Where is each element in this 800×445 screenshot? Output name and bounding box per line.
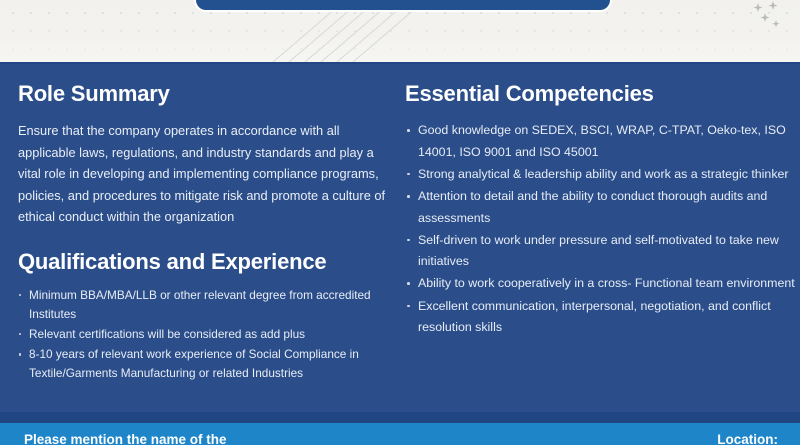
left-column: Role Summary Ensure that the company ope… <box>18 62 390 384</box>
role-summary-paragraph: Ensure that the company operates in acco… <box>18 120 390 227</box>
right-column: Essential Competencies Good knowledge on… <box>405 62 797 339</box>
list-item: Self-driven to work under pressure and s… <box>405 230 797 273</box>
footer-divider-strip <box>0 412 800 423</box>
footer-strip: Please mention the name of the Location: <box>0 423 800 445</box>
qualifications-title: Qualifications and Experience <box>18 250 390 274</box>
main-content-panel: Role Summary Ensure that the company ope… <box>0 62 800 412</box>
list-item: Good knowledge on SEDEX, BSCI, WRAP, C-T… <box>405 120 797 163</box>
header-decoration-band <box>0 0 800 62</box>
list-item: 8-10 years of relevant work experience o… <box>18 345 390 383</box>
list-item: Relevant certifications will be consider… <box>18 325 390 344</box>
list-item: Excellent communication, interpersonal, … <box>405 296 797 339</box>
role-summary-title: Role Summary <box>18 82 390 106</box>
list-item: Strong analytical & leadership ability a… <box>405 164 797 185</box>
list-item: Minimum BBA/MBA/LLB or other relevant de… <box>18 286 390 324</box>
competencies-list: Good knowledge on SEDEX, BSCI, WRAP, C-T… <box>405 120 797 338</box>
header-title-pill <box>196 0 610 10</box>
qualifications-list: Minimum BBA/MBA/LLB or other relevant de… <box>18 286 390 384</box>
footer-left-text: Please mention the name of the <box>24 432 227 445</box>
essential-competencies-title: Essential Competencies <box>405 82 797 106</box>
sparkle-plus-icon <box>748 0 800 34</box>
footer-location-label: Location: <box>717 432 778 445</box>
list-item: Attention to detail and the ability to c… <box>405 186 797 229</box>
job-post-poster: Role Summary Ensure that the company ope… <box>0 0 800 445</box>
list-item: Ability to work cooperatively in a cross… <box>405 273 797 294</box>
